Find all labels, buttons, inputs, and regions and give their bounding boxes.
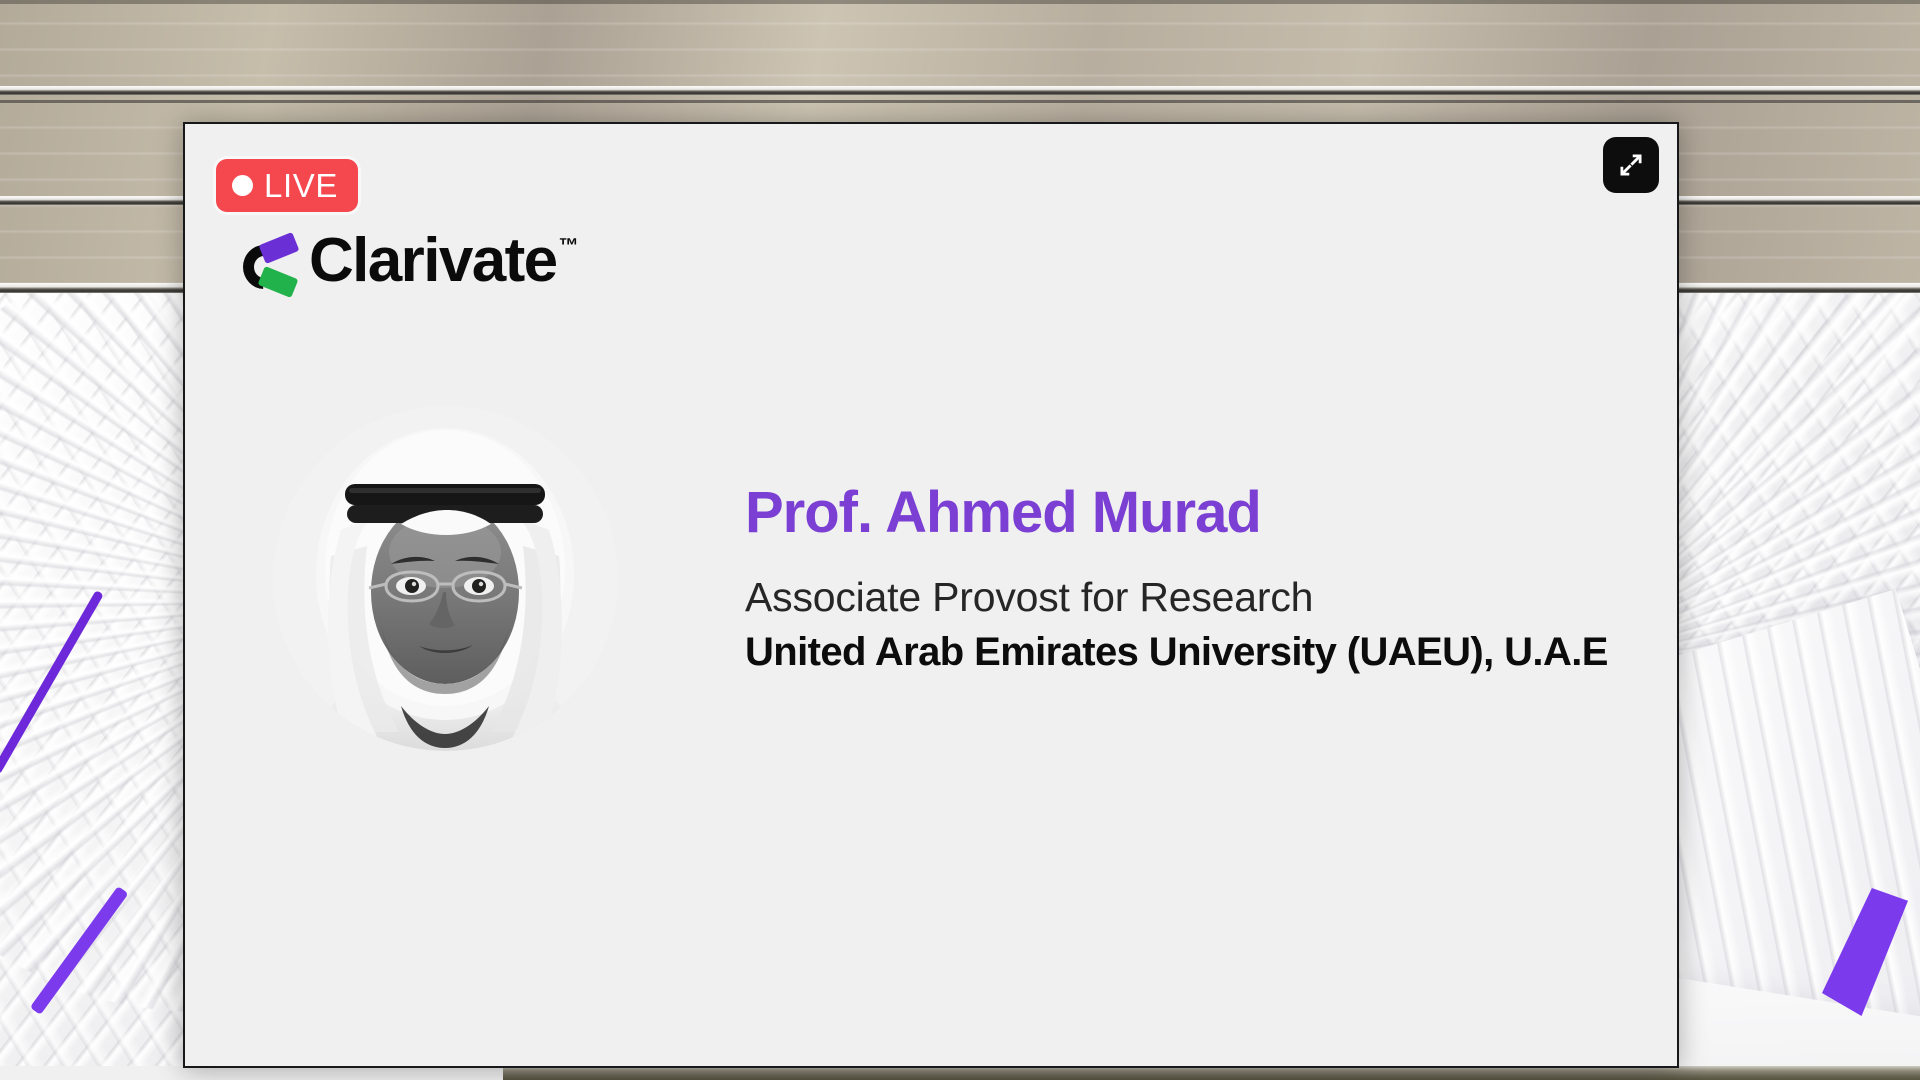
wall-line-1 [0,100,1920,103]
clarivate-wordmark: Clarivate [309,230,557,292]
speaker-name: Prof. Ahmed Murad [745,482,1608,543]
slide-content-row: Prof. Ahmed Murad Associate Provost for … [185,406,1677,751]
fullscreen-expand-icon [1616,150,1646,180]
speaker-organization: United Arab Emirates University (UAEU), … [745,630,1608,675]
presentation-slide: LIVE Clarivate ™ [183,122,1679,1068]
logo-green-shape [258,266,299,298]
fullscreen-expand-button[interactable] [1603,137,1659,193]
clarivate-brand-lockup: Clarivate ™ [241,230,579,296]
logo-purple-shape [259,232,300,264]
stage-floor-mask [0,1066,503,1080]
speaker-portrait-illustration [273,406,618,751]
live-label: LIVE [264,169,338,202]
wall-line-top [0,0,1920,4]
trademark-symbol: ™ [559,236,579,256]
speaker-details: Prof. Ahmed Murad Associate Provost for … [745,482,1608,675]
live-dot-icon [232,175,253,196]
speaker-avatar [273,406,618,751]
live-badge: LIVE [216,159,358,212]
wall-seam-1 [0,86,1920,95]
speaker-role: Associate Provost for Research [745,575,1608,621]
clarivate-logo-icon [241,238,299,296]
